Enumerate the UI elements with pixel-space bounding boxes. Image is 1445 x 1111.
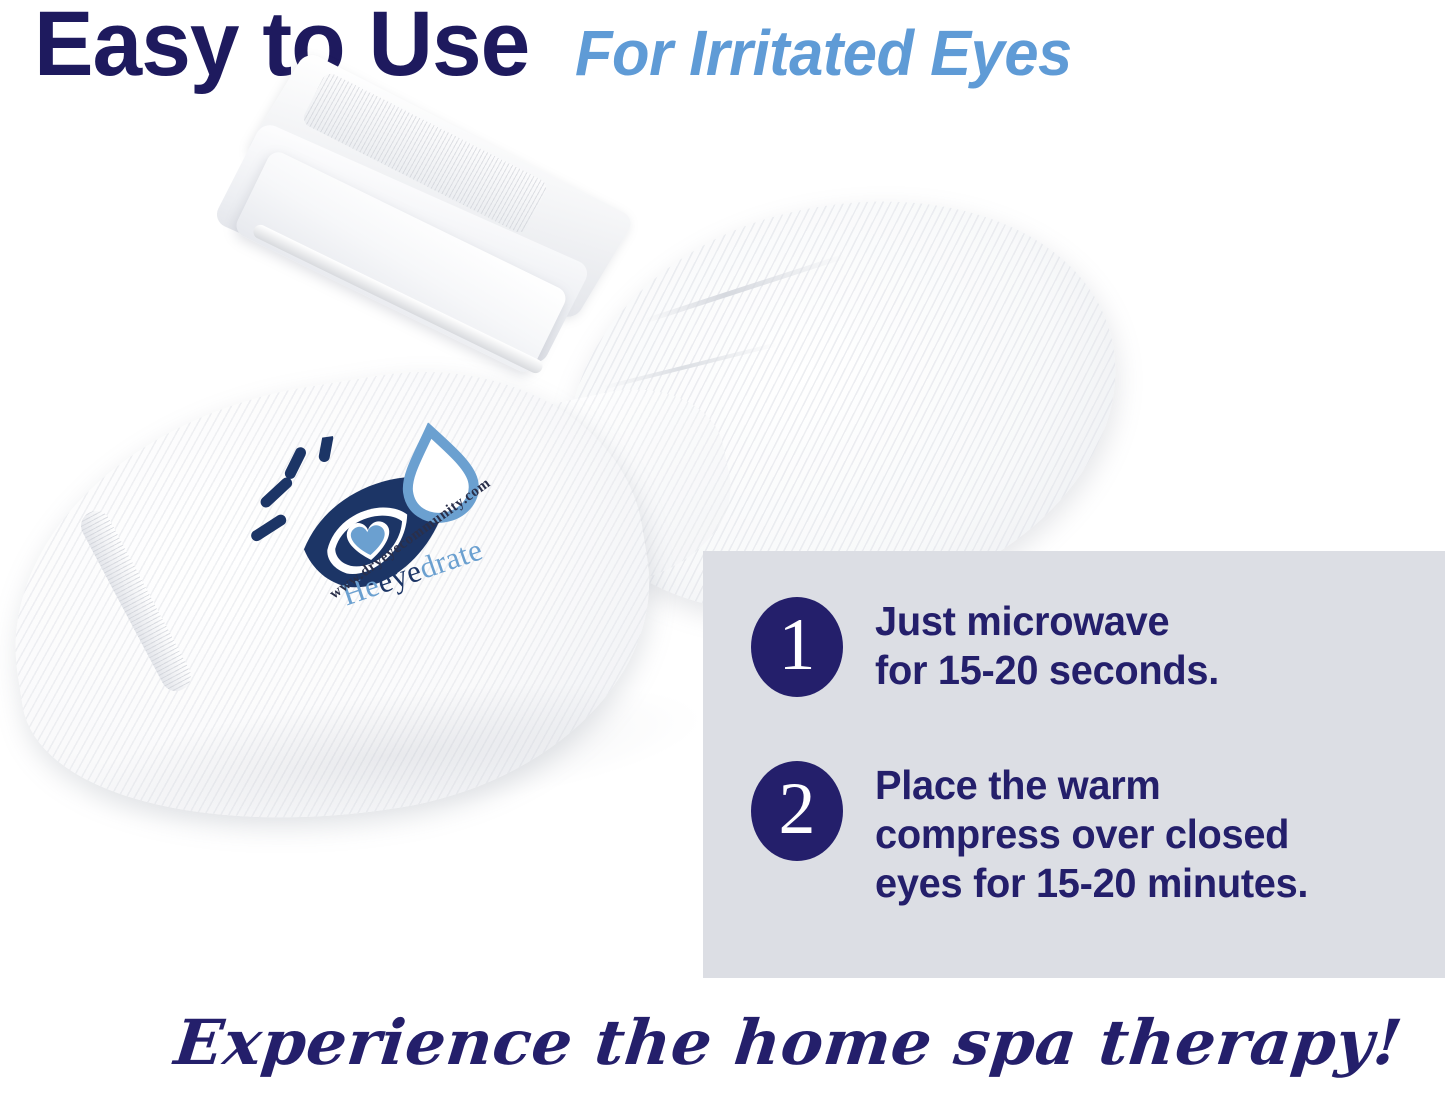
headline-subtitle-text: For Irritated Eyes — [575, 21, 1072, 85]
instruction-step-1: 1 Just microwave for 15-20 seconds. — [751, 597, 1230, 697]
step-1-number-badge: 1 — [751, 597, 843, 697]
headline-main-text: Easy to Use — [34, 0, 529, 93]
heyedrate-logo: Heeyedrate www.dryeyecommunity.com — [234, 408, 561, 663]
logo-artwork — [234, 408, 561, 663]
step-1-text: Just microwave for 15-20 seconds. — [875, 597, 1219, 695]
instruction-panel: 1 Just microwave for 15-20 seconds. 2 Pl… — [703, 551, 1445, 978]
step-2-text: Place the warm compress over closed eyes… — [875, 761, 1308, 909]
instruction-step-2: 2 Place the warm compress over closed ey… — [751, 761, 1322, 909]
bottom-tagline: Experience the home spa therapy! — [172, 1012, 1406, 1074]
infographic-page: Easy to Use For Irritated Eyes — [0, 0, 1445, 1111]
headline: Easy to Use For Irritated Eyes — [34, 0, 1092, 93]
step-2-number-badge: 2 — [751, 761, 843, 861]
